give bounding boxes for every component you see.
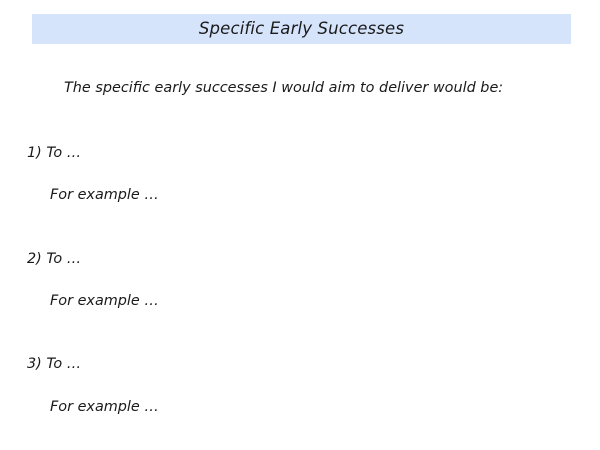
list-item-example: For example … — [50, 292, 159, 310]
list-item-example: For example … — [50, 186, 159, 204]
early-successes-list: 1) To … For example … 2) To … For exampl… — [0, 0, 600, 450]
slide: Specific Early Successes The specific ea… — [0, 0, 600, 450]
list-item-example: For example … — [50, 398, 159, 416]
list-item-heading: 1) To … — [27, 144, 81, 162]
list-item-heading: 3) To … — [27, 355, 81, 373]
list-item-heading: 2) To … — [27, 250, 81, 268]
